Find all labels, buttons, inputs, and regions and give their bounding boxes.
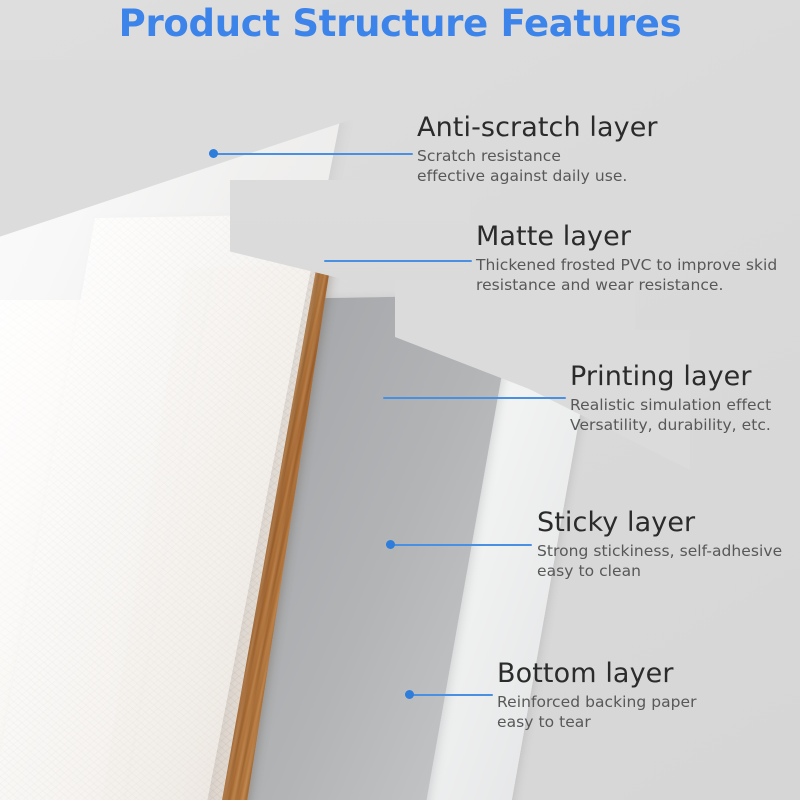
layer-description: Thickened frosted PVC to improve skid re…: [476, 255, 777, 296]
layer-description: Reinforced backing paper easy to tear: [497, 692, 697, 733]
infographic-canvas: Product Structure Features Anti-scratch …: [0, 0, 800, 800]
page-title: Product Structure Features: [0, 2, 800, 45]
layer-description: Strong stickiness, self-adhesive easy to…: [537, 541, 782, 582]
layer-description: Realistic simulation effect Versatility,…: [570, 395, 771, 436]
leader-dot: [209, 149, 218, 158]
leader-dot: [405, 690, 414, 699]
leader-stroke: [386, 544, 532, 546]
layer-label: Printing layer: [570, 362, 771, 392]
layer-description: Scratch resistance effective against dai…: [417, 146, 658, 187]
leader-line-printing: [383, 391, 566, 405]
leader-line-sticky: [386, 538, 532, 552]
callout-sticky: Sticky layer Strong stickiness, self-adh…: [537, 508, 782, 582]
callout-printing: Printing layer Realistic simulation effe…: [570, 362, 771, 436]
layer-label: Matte layer: [476, 222, 777, 252]
leader-stroke: [324, 260, 472, 262]
callout-anti-scratch: Anti-scratch layer Scratch resistance ef…: [417, 113, 658, 187]
layer-label: Sticky layer: [537, 508, 782, 538]
leader-stroke: [209, 153, 413, 155]
callout-bottom: Bottom layer Reinforced backing paper ea…: [497, 659, 697, 733]
layer-label: Anti-scratch layer: [417, 113, 658, 143]
layer-label: Bottom layer: [497, 659, 697, 689]
leader-stroke: [383, 397, 566, 399]
leader-line-bottom: [405, 688, 493, 702]
leader-stroke: [405, 694, 493, 696]
leader-line-matte: [324, 254, 472, 268]
callout-matte: Matte layer Thickened frosted PVC to imp…: [476, 222, 777, 296]
leader-line-anti-scratch: [209, 147, 413, 161]
leader-dot: [386, 540, 395, 549]
